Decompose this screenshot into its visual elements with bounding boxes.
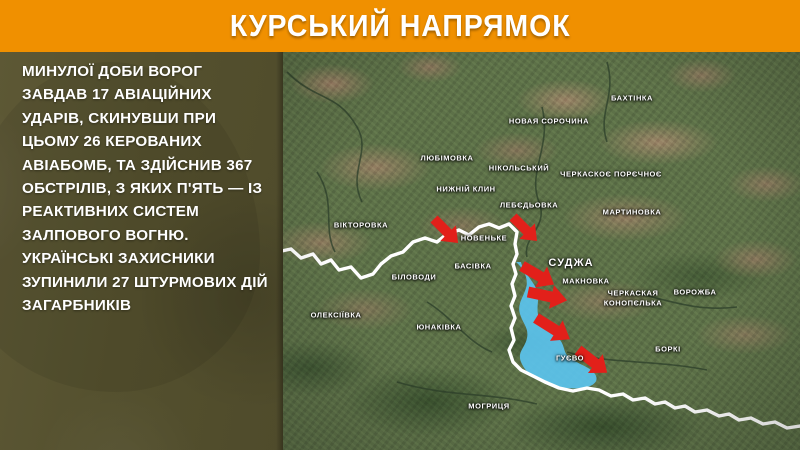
map-vignette <box>277 52 800 450</box>
summary-text: МИНУЛОЇ ДОБИ ВОРОГ ЗАВДАВ 17 АВІАЦІЙНИХ … <box>22 60 269 317</box>
infographic-root: КУРСЬКИЙ НАПРЯМОК <box>0 0 800 450</box>
panel-text-block: МИНУЛОЇ ДОБИ ВОРОГ ЗАВДАВ 17 АВІАЦІЙНИХ … <box>0 52 283 317</box>
page-title: КУРСЬКИЙ НАПРЯМОК <box>230 8 571 44</box>
summary-panel: МИНУЛОЇ ДОБИ ВОРОГ ЗАВДАВ 17 АВІАЦІЙНИХ … <box>0 52 283 450</box>
satellite-map <box>277 52 800 450</box>
header-banner: КУРСЬКИЙ НАПРЯМОК <box>0 0 800 52</box>
panel-shadow-edge <box>276 52 283 450</box>
